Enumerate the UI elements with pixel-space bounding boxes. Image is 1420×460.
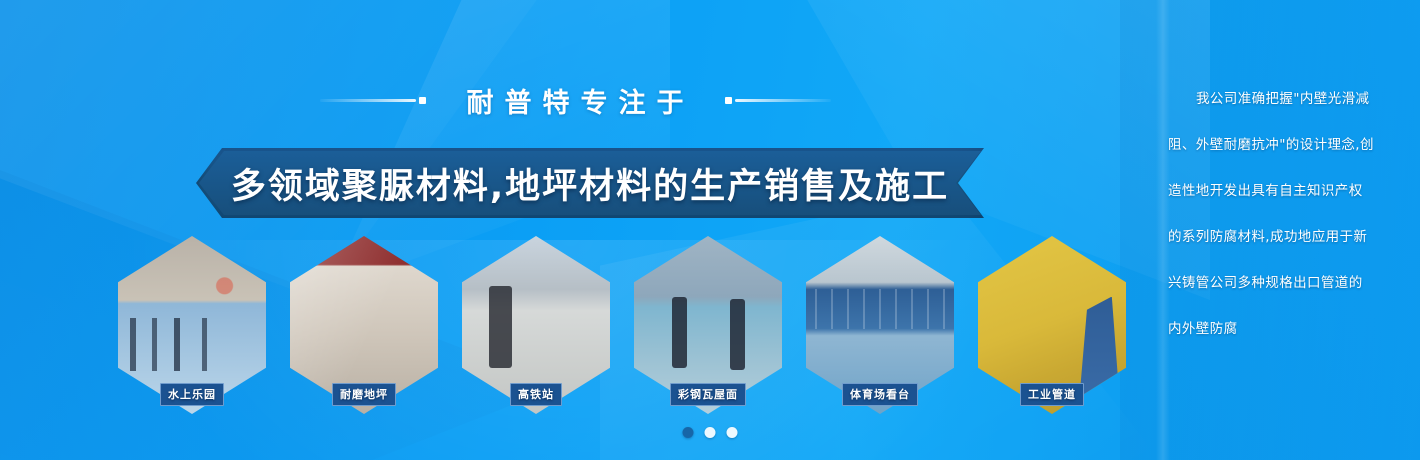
main-title-text: 多领域聚脲材料,地坪材料的生产销售及施工 [231,158,949,209]
company-description-paragraph: 我公司准确把握"内壁光滑减 阻、外壁耐磨抗冲"的设计理念,创 造性地开发出具有自… [1168,76,1384,352]
main-title-banner: 多领域聚脲材料,地坪材料的生产销售及施工 [196,148,984,218]
hexagon-tile-industrial-pipeline[interactable]: 工业管道 [978,236,1126,414]
paragraph-line: 阻、外壁耐磨抗冲"的设计理念,创 [1168,122,1384,168]
hexagon-caption: 耐磨地坪 [332,383,396,406]
paragraph-line: 兴铸管公司多种规格出口管道的 [1168,260,1384,306]
paragraph-line: 内外壁防腐 [1168,306,1384,352]
hexagon-caption: 体育场看台 [842,383,918,406]
carousel-dot-3[interactable] [727,427,738,438]
hexagon-tile-color-steel-tile-roof[interactable]: 彩钢瓦屋面 [634,236,782,414]
paragraph-line: 造性地开发出具有自主知识产权 [1168,168,1384,214]
paragraph-line: 我公司准确把握"内壁光滑减 [1168,76,1384,122]
decorative-line-left [320,95,426,105]
promotional-banner: 耐普特专注于 多领域聚脲材料,地坪材料的生产销售及施工 水上乐园 耐磨地坪 高 [0,0,1420,460]
headline-text: 耐普特专注于 [440,81,711,120]
carousel-dot-1[interactable] [683,427,694,438]
hexagon-caption: 高铁站 [510,383,562,406]
hexagon-tile-wear-resistant-floor[interactable]: 耐磨地坪 [290,236,438,414]
carousel-dot-2[interactable] [705,427,716,438]
hexagon-gallery: 水上乐园 耐磨地坪 高铁站 彩钢瓦屋面 体育场看台 [118,236,1128,418]
paragraph-line: 的系列防腐材料,成功地应用于新 [1168,214,1384,260]
hexagon-caption: 工业管道 [1020,383,1084,406]
hexagon-tile-high-speed-rail-station[interactable]: 高铁站 [462,236,610,414]
carousel-dots [683,427,738,438]
hexagon-tile-stadium-grandstand[interactable]: 体育场看台 [806,236,954,414]
hexagon-caption: 彩钢瓦屋面 [670,383,746,406]
hexagon-tile-water-park[interactable]: 水上乐园 [118,236,266,414]
decorative-line-right [725,95,831,105]
hexagon-caption: 水上乐园 [160,383,224,406]
headline-row: 耐普特专注于 [0,78,1150,122]
